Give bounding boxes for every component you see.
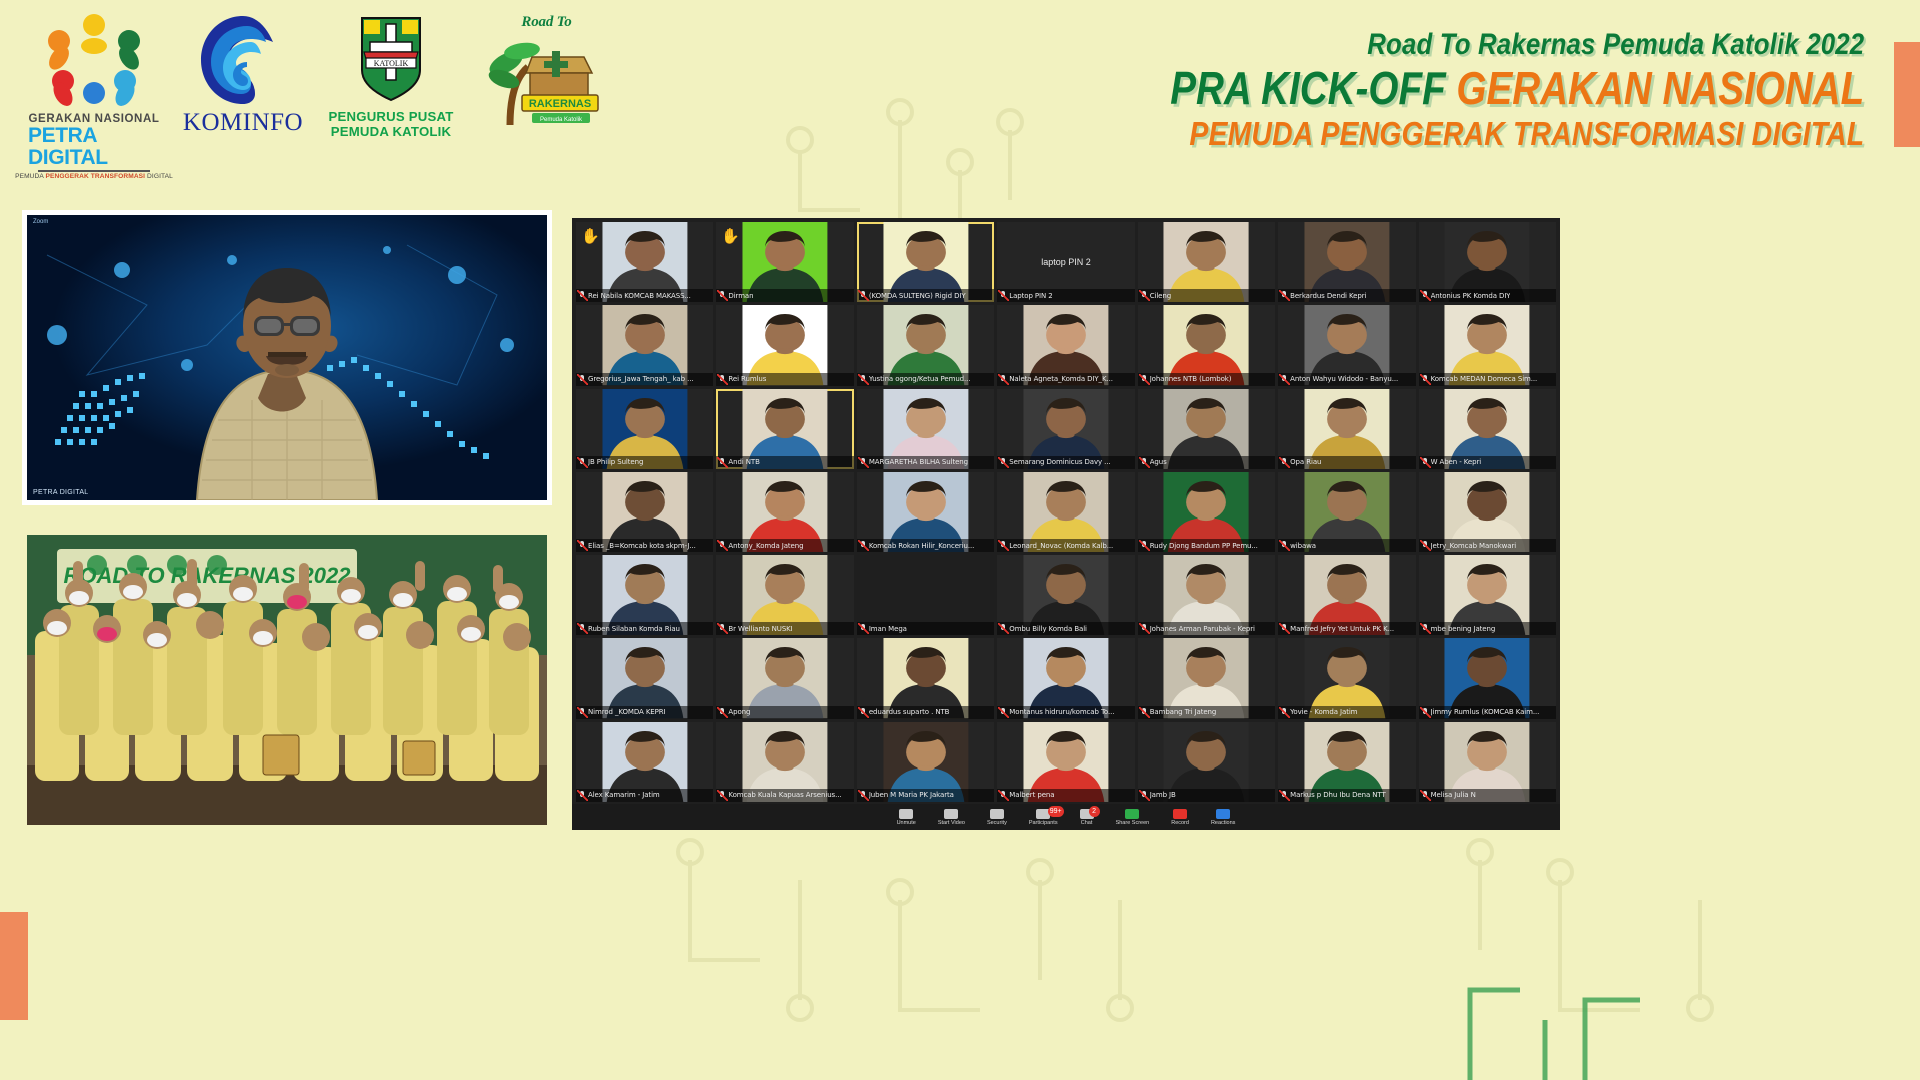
rakernas-badge-icon: RAKERNAS Pemuda Katolik <box>488 33 606 128</box>
microphone-muted-icon <box>1280 791 1288 800</box>
participant-tile[interactable]: Juben M Maria PK Jakarta <box>857 722 994 802</box>
participant-name: Opa Riau <box>1290 458 1321 466</box>
participant-name-bar: Semarang Dominicus Davy ... <box>997 456 1134 469</box>
microphone-muted-icon <box>1421 375 1429 384</box>
participant-name-bar: Montanus hidruru/komcab To... <box>997 706 1134 719</box>
microphone-muted-icon <box>578 624 586 633</box>
speaker-name-label: PETRA DIGITAL <box>33 489 89 496</box>
group-photo-panel[interactable]: ROAD TO RAKERNAS 2022 <box>22 530 552 830</box>
participant-tile[interactable]: Rudy Djong Bandum PP Pemu... <box>1138 472 1275 552</box>
participant-name-bar: Apong <box>716 706 853 719</box>
participant-name: Yovie - Komda Jatim <box>1290 708 1357 716</box>
participant-name-bar: Elias _B=Komcab kota skpm-J... <box>576 539 713 552</box>
toolbar-badge: 99+ <box>1048 806 1064 817</box>
participant-name: Elias _B=Komcab kota skpm-J... <box>588 542 696 550</box>
microphone-muted-icon <box>1140 291 1148 300</box>
toolbar-reactions-button[interactable]: Reactions <box>1211 809 1235 826</box>
participant-tile[interactable]: Montanus hidruru/komcab To... <box>997 638 1134 718</box>
toolbar-share-button[interactable]: Share Screen <box>1116 809 1150 826</box>
microphone-muted-icon <box>999 791 1007 800</box>
participant-name: (KOMDA SULTENG) Rigid DIY <box>869 292 966 300</box>
participant-name-bar: Bambang Tri Jateng <box>1138 706 1275 719</box>
microphone-muted-icon <box>718 791 726 800</box>
katolik-shield-icon: KATOLIK <box>358 14 424 102</box>
participant-name-bar: JB Philip Sulteng <box>576 456 713 469</box>
microphone-muted-icon <box>1140 541 1148 550</box>
microphone-muted-icon <box>718 458 726 467</box>
participant-tile[interactable]: Semarang Dominicus Davy ... <box>997 389 1134 469</box>
microphone-muted-icon <box>1421 291 1429 300</box>
kominfo-wordmark: KOMINFO <box>183 109 303 137</box>
mic-icon <box>899 809 913 819</box>
accent-bar-right <box>1894 42 1920 147</box>
participant-name: Agus <box>1150 458 1167 466</box>
title-line-2-green: PRA KICK-OFF <box>1170 62 1456 114</box>
participant-name: Andi NTB <box>728 458 759 466</box>
participant-name-bar: Komcab MEDAN Domeca Sim... <box>1419 373 1556 386</box>
participant-tile[interactable]: Malbert pena <box>997 722 1134 802</box>
microphone-muted-icon <box>999 708 1007 717</box>
microphone-muted-icon <box>1140 375 1148 384</box>
microphone-muted-icon <box>859 624 867 633</box>
participant-name: Br Wellianto NUSKI <box>728 625 792 633</box>
participant-name-bar: Ombu Billy Komda Bali <box>997 622 1134 635</box>
microphone-muted-icon <box>999 624 1007 633</box>
participant-tile[interactable]: Yustina ogong/Ketua Pemud... <box>857 305 994 385</box>
participant-name-bar: Johannes NTB (Lombok) <box>1138 373 1275 386</box>
microphone-muted-icon <box>718 708 726 717</box>
zoom-toolbar[interactable]: UnmuteStart VideoSecurity99+Participants… <box>572 804 1560 830</box>
participant-tile[interactable]: (KOMDA SULTENG) Rigid DIY <box>857 222 994 302</box>
participant-name-bar: Melisa Julia N <box>1419 789 1556 802</box>
microphone-muted-icon <box>1140 624 1148 633</box>
participant-name-bar: Naleta Agneta_Komda DIY_K... <box>997 373 1134 386</box>
svg-text:RAKERNAS: RAKERNAS <box>528 98 590 110</box>
participant-name-bar: Agus <box>1138 456 1275 469</box>
toolbar-label: Share Screen <box>1116 820 1150 826</box>
participant-name-bar: Nimrod _KOMDA KEPRI <box>576 706 713 719</box>
video-icon <box>944 809 958 819</box>
divider <box>38 170 150 172</box>
microphone-muted-icon <box>859 791 867 800</box>
participant-grid: ✋Rei Nabila KOMCAB MAKASS...✋Dirman(KOMD… <box>576 222 1556 802</box>
microphone-muted-icon <box>859 458 867 467</box>
microphone-muted-icon <box>578 791 586 800</box>
participant-name-bar: Jetry_Komcab Manokwari <box>1419 539 1556 552</box>
participant-name-bar: mbe bening Jateng <box>1419 622 1556 635</box>
participant-name: Melisa Julia N <box>1431 791 1476 799</box>
raise-hand-icon: ✋ <box>581 229 600 244</box>
share-icon <box>1125 809 1139 819</box>
microphone-muted-icon <box>1421 541 1429 550</box>
security-icon <box>990 809 1004 819</box>
logo-road-to-rakernas: Road To RAKERNAS Pemuda Katolik <box>484 14 609 128</box>
microphone-muted-icon <box>1140 458 1148 467</box>
participant-tile[interactable]: Johannes NTB (Lombok) <box>1138 305 1275 385</box>
participant-name-bar: Rei Rumlus <box>716 373 853 386</box>
participant-name-bar: wibawa <box>1278 539 1415 552</box>
microphone-muted-icon <box>718 624 726 633</box>
participant-name-bar: Berkardus Dendi Kepri <box>1278 289 1415 302</box>
participant-name-bar: Dirman <box>716 289 853 302</box>
participant-tile[interactable]: Jetry_Komcab Manokwari <box>1419 472 1556 552</box>
participant-name: Rudy Djong Bandum PP Pemu... <box>1150 542 1258 550</box>
pk-label: PENGURUS PUSATPEMUDA KATOLIK <box>329 109 454 139</box>
toolbar-record-button[interactable]: Record <box>1171 809 1189 826</box>
microphone-muted-icon <box>578 708 586 717</box>
participant-tile[interactable]: Ruben Silaban Komda Riau <box>576 555 713 635</box>
logo-kominfo: KOMINFO <box>188 14 298 137</box>
logo-pemuda-katolik: KATOLIK PENGURUS PUSATPEMUDA KATOLIK <box>326 14 456 139</box>
participant-name-bar: (KOMDA SULTENG) Rigid DIY <box>857 289 994 302</box>
participant-name: Bambang Tri Jateng <box>1150 708 1217 716</box>
toolbar-mic-button[interactable]: Unmute <box>897 809 916 826</box>
microphone-muted-icon <box>999 291 1007 300</box>
participant-tile[interactable]: Br Wellianto NUSKI <box>716 555 853 635</box>
participant-name-bar: Laptop PIN 2 <box>997 289 1134 302</box>
microphone-muted-icon <box>999 541 1007 550</box>
participant-name: Rei Rumlus <box>728 375 766 383</box>
participant-name: Jamb JB <box>1150 791 1176 799</box>
participant-name: Yustina ogong/Ketua Pemud... <box>869 375 971 383</box>
participant-name: JB Philip Sulteng <box>588 458 643 466</box>
participant-tile[interactable]: Komcab MEDAN Domeca Sim... <box>1419 305 1556 385</box>
participant-tile[interactable]: Manfred Jefry Yet Untuk PK K... <box>1278 555 1415 635</box>
toolbar-security-button[interactable]: Security <box>987 809 1007 826</box>
participant-name: Jimmy Rumlus (KOMCAB Kaim... <box>1431 708 1540 716</box>
participant-name: Berkardus Dendi Kepri <box>1290 292 1366 300</box>
participant-tile[interactable]: Bambang Tri Jateng <box>1138 638 1275 718</box>
participant-tile[interactable]: Jimmy Rumlus (KOMCAB Kaim... <box>1419 638 1556 718</box>
microphone-muted-icon <box>1421 458 1429 467</box>
participant-tile[interactable]: Apong <box>716 638 853 718</box>
participant-name: W Aben - Kepri <box>1431 458 1482 466</box>
participant-name-bar: Komcab Rokan Hilir_Konceriu... <box>857 539 994 552</box>
speaker-video-panel[interactable]: Zoom PETRA DIGITAL <box>22 210 552 505</box>
road-to-label: Road To <box>521 14 571 31</box>
participant-name: Jetry_Komcab Manokwari <box>1431 542 1517 550</box>
participant-name-bar: Opa Riau <box>1278 456 1415 469</box>
participant-name: Johannes NTB (Lombok) <box>1150 375 1232 383</box>
microphone-muted-icon <box>859 541 867 550</box>
kominfo-wave-icon <box>197 14 289 106</box>
participant-name-bar: Juben M Maria PK Jakarta <box>857 789 994 802</box>
participant-name-bar: Antonius PK Komda DIY <box>1419 289 1556 302</box>
microphone-muted-icon <box>578 375 586 384</box>
microphone-muted-icon <box>1280 291 1288 300</box>
reactions-icon <box>1216 809 1230 819</box>
participant-name: Komcab Rokan Hilir_Konceriu... <box>869 542 974 550</box>
participant-name: wibawa <box>1290 542 1316 550</box>
title-line-2: PRA KICK-OFF GERAKAN NASIONAL <box>1170 64 1864 114</box>
participant-name-bar: Rudy Djong Bandum PP Pemu... <box>1138 539 1275 552</box>
svg-text:KATOLIK: KATOLIK <box>374 59 409 68</box>
participant-name: Anton Wahyu Widodo - Banyu... <box>1290 375 1398 383</box>
participant-name: mbe bening Jateng <box>1431 625 1496 633</box>
participant-name: Malbert pena <box>1009 791 1054 799</box>
toolbar-label: Chat <box>1081 820 1093 826</box>
participant-name-bar: Malbert pena <box>997 789 1134 802</box>
participant-tile[interactable]: Nimrod _KOMDA KEPRI <box>576 638 713 718</box>
zoom-meeting-window[interactable]: ✋Rei Nabila KOMCAB MAKASS...✋Dirman(KOMD… <box>572 218 1560 830</box>
microphone-muted-icon <box>1280 541 1288 550</box>
participant-name: Juben M Maria PK Jakarta <box>869 791 954 799</box>
toolbar-video-button[interactable]: Start Video <box>938 809 965 826</box>
toolbar-label: Start Video <box>938 820 965 826</box>
participant-name: Markus p Dhu Ibu Dena NTT <box>1290 791 1386 799</box>
participant-name: Cileng <box>1150 292 1171 300</box>
petra-line2: PETRA DIGITAL <box>28 125 160 169</box>
participant-name-bar: Markus p Dhu Ibu Dena NTT <box>1278 789 1415 802</box>
microphone-muted-icon <box>1280 624 1288 633</box>
participant-name-bar: Yustina ogong/Ketua Pemud... <box>857 373 994 386</box>
microphone-muted-icon <box>578 458 586 467</box>
title-line-2-orange: GERAKAN NASIONAL <box>1456 62 1864 114</box>
participant-tile[interactable]: Opa Riau <box>1278 389 1415 469</box>
participant-name: Komcab Kuala Kapuas Arsenius... <box>728 791 841 799</box>
participant-tile[interactable]: mbe bening Jateng <box>1419 555 1556 635</box>
participant-name: Naleta Agneta_Komda DIY_K... <box>1009 375 1113 383</box>
microphone-muted-icon <box>859 708 867 717</box>
participant-name-bar: Johanes Arman Parubak - Kepri <box>1138 622 1275 635</box>
record-icon <box>1173 809 1187 819</box>
participant-tile[interactable]: JB Philip Sulteng <box>576 389 713 469</box>
participant-name: Semarang Dominicus Davy ... <box>1009 458 1110 466</box>
participant-tile[interactable]: Iman Mega <box>857 555 994 635</box>
participant-name: Rei Nabila KOMCAB MAKASS... <box>588 292 691 300</box>
participant-name-bar: Antony_Komda Jateng <box>716 539 853 552</box>
participant-tile[interactable]: wibawa <box>1278 472 1415 552</box>
participant-name: Antony_Komda Jateng <box>728 542 803 550</box>
participant-tile[interactable]: Elias _B=Komcab kota skpm-J... <box>576 472 713 552</box>
participant-tile[interactable]: eduardus suparto . NTB <box>857 638 994 718</box>
participant-name-bar: eduardus suparto . NTB <box>857 706 994 719</box>
raise-hand-icon: ✋ <box>721 229 740 244</box>
participant-tile[interactable]: Leonard_Novac (Komda Kalb... <box>997 472 1134 552</box>
speaker-corner-tag: Zoom <box>33 219 48 225</box>
participant-tile[interactable]: ✋Dirman <box>716 222 853 302</box>
participant-name: Leonard_Novac (Komda Kalb... <box>1009 542 1113 550</box>
participant-tile[interactable]: Komcab Kuala Kapuas Arsenius... <box>716 722 853 802</box>
microphone-muted-icon <box>999 458 1007 467</box>
microphone-muted-icon <box>1280 708 1288 717</box>
participant-name-bar: Iman Mega <box>857 622 994 635</box>
participant-name-bar: Anton Wahyu Widodo - Banyu... <box>1278 373 1415 386</box>
microphone-muted-icon <box>999 375 1007 384</box>
participant-tile[interactable]: Berkardus Dendi Kepri <box>1278 222 1415 302</box>
microphone-muted-icon <box>718 541 726 550</box>
logo-petra-digital: GERAKAN NASIONAL PETRA DIGITAL PEMUDA PE… <box>28 14 160 180</box>
microphone-muted-icon <box>1421 791 1429 800</box>
participant-tile[interactable]: ✋Rei Nabila KOMCAB MAKASS... <box>576 222 713 302</box>
microphone-muted-icon <box>1280 458 1288 467</box>
microphone-muted-icon <box>1140 791 1148 800</box>
participant-name: Komcab MEDAN Domeca Sim... <box>1431 375 1538 383</box>
toolbar-label: Reactions <box>1211 820 1235 826</box>
microphone-muted-icon <box>718 375 726 384</box>
participant-name: MARGARETHA BILHA Sulteng <box>869 458 968 466</box>
participant-name-bar: Yovie - Komda Jatim <box>1278 706 1415 719</box>
participant-name-bar: Andi NTB <box>716 456 853 469</box>
title-line-3: PEMUDA PENGGERAK TRANSFORMASI DIGITAL <box>1153 115 1864 153</box>
participant-tile[interactable]: Gregorius_Jawa Tengah_ kab ... <box>576 305 713 385</box>
participant-name: eduardus suparto . NTB <box>869 708 950 716</box>
speaker-video: Zoom PETRA DIGITAL <box>27 215 547 500</box>
participant-name-bar: Komcab Kuala Kapuas Arsenius... <box>716 789 853 802</box>
toolbar-badge: 2 <box>1089 806 1100 817</box>
logo-row: GERAKAN NASIONAL PETRA DIGITAL PEMUDA PE… <box>28 14 609 180</box>
participant-name: Antonius PK Komda DIY <box>1431 292 1511 300</box>
participant-tile[interactable]: Cileng <box>1138 222 1275 302</box>
participant-tile[interactable]: Alex Kamarim - Jatim <box>576 722 713 802</box>
participant-tile[interactable]: Antonius PK Komda DIY <box>1419 222 1556 302</box>
participant-name: Manfred Jefry Yet Untuk PK K... <box>1290 625 1394 633</box>
toolbar-participants-button[interactable]: 99+Participants <box>1029 809 1058 826</box>
toolbar-label: Security <box>987 820 1007 826</box>
microphone-muted-icon <box>578 541 586 550</box>
svg-text:Pemuda Katolik: Pemuda Katolik <box>539 117 582 123</box>
participant-name: Alex Kamarim - Jatim <box>588 791 660 799</box>
participant-tile[interactable]: Ombu Billy Komda Bali <box>997 555 1134 635</box>
participant-tile[interactable]: Naleta Agneta_Komda DIY_K... <box>997 305 1134 385</box>
participant-tile[interactable]: Jamb JB <box>1138 722 1275 802</box>
participant-tile[interactable]: Komcab Rokan Hilir_Konceriu... <box>857 472 994 552</box>
title-line-1: Road To Rakernas Pemuda Katolik 2022 <box>1153 28 1864 63</box>
microphone-muted-icon <box>718 291 726 300</box>
participant-name: Apong <box>728 708 750 716</box>
participant-name: Ruben Silaban Komda Riau <box>588 625 680 633</box>
participant-name: Laptop PIN 2 <box>1009 292 1052 300</box>
participant-name: Gregorius_Jawa Tengah_ kab ... <box>588 375 693 383</box>
toolbar-label: Unmute <box>897 820 916 826</box>
petra-line3: PEMUDA PENGGERAK TRANSFORMASI DIGITAL <box>15 173 173 180</box>
participant-tile[interactable]: laptop PIN 2Laptop PIN 2 <box>997 222 1134 302</box>
participant-name: Johanes Arman Parubak - Kepri <box>1150 625 1255 633</box>
toolbar-label: Participants <box>1029 820 1058 826</box>
participant-name: Nimrod _KOMDA KEPRI <box>588 708 665 716</box>
participant-name-bar: Jamb JB <box>1138 789 1275 802</box>
participant-name-bar: Manfred Jefry Yet Untuk PK K... <box>1278 622 1415 635</box>
participant-name-bar: Leonard_Novac (Komda Kalb... <box>997 539 1134 552</box>
participant-name-bar: Jimmy Rumlus (KOMCAB Kaim... <box>1419 706 1556 719</box>
accent-bar-bottom-left <box>0 912 28 1020</box>
participant-tile[interactable]: Yovie - Komda Jatim <box>1278 638 1415 718</box>
participant-tile[interactable]: Andi NTB <box>716 389 853 469</box>
participant-name-bar: Br Wellianto NUSKI <box>716 622 853 635</box>
participant-tile[interactable]: Anton Wahyu Widodo - Banyu... <box>1278 305 1415 385</box>
group-photo: ROAD TO RAKERNAS 2022 <box>27 535 547 825</box>
header: GERAKAN NASIONAL PETRA DIGITAL PEMUDA PE… <box>0 0 1920 205</box>
participant-tile[interactable]: W Aben - Kepri <box>1419 389 1556 469</box>
participant-name-bar: Ruben Silaban Komda Riau <box>576 622 713 635</box>
participant-name: Ombu Billy Komda Bali <box>1009 625 1087 633</box>
toolbar-label: Record <box>1171 820 1189 826</box>
participant-name: Dirman <box>728 292 753 300</box>
microphone-muted-icon <box>1280 375 1288 384</box>
participant-tile[interactable]: Antony_Komda Jateng <box>716 472 853 552</box>
participant-name-bar: W Aben - Kepri <box>1419 456 1556 469</box>
microphone-muted-icon <box>578 291 586 300</box>
participant-tile[interactable]: MARGARETHA BILHA Sulteng <box>857 389 994 469</box>
participant-name-bar: MARGARETHA BILHA Sulteng <box>857 456 994 469</box>
toolbar-chat-button[interactable]: 2Chat <box>1080 809 1094 826</box>
participant-tile[interactable]: Johanes Arman Parubak - Kepri <box>1138 555 1275 635</box>
participant-name-bar: Gregorius_Jawa Tengah_ kab ... <box>576 373 713 386</box>
microphone-muted-icon <box>1421 624 1429 633</box>
participant-name: Iman Mega <box>869 625 907 633</box>
microphone-muted-icon <box>1140 708 1148 717</box>
group-photo-image: ROAD TO RAKERNAS 2022 <box>27 535 547 825</box>
participant-name-bar: Rei Nabila KOMCAB MAKASS... <box>576 289 713 302</box>
microphone-muted-icon <box>859 291 867 300</box>
participant-tile[interactable]: Melisa Julia N <box>1419 722 1556 802</box>
microphone-muted-icon <box>1421 708 1429 717</box>
participant-tile[interactable]: Rei Rumlus <box>716 305 853 385</box>
participant-name-bar: Alex Kamarim - Jatim <box>576 789 713 802</box>
event-title-block: Road To Rakernas Pemuda Katolik 2022 PRA… <box>1038 28 1864 153</box>
participant-name: Montanus hidruru/komcab To... <box>1009 708 1114 716</box>
participant-tile[interactable]: Agus <box>1138 389 1275 469</box>
petra-star-icon <box>40 14 148 109</box>
participant-tile[interactable]: Markus p Dhu Ibu Dena NTT <box>1278 722 1415 802</box>
microphone-muted-icon <box>859 375 867 384</box>
speaker-person <box>162 250 412 500</box>
participant-name-bar: Cileng <box>1138 289 1275 302</box>
